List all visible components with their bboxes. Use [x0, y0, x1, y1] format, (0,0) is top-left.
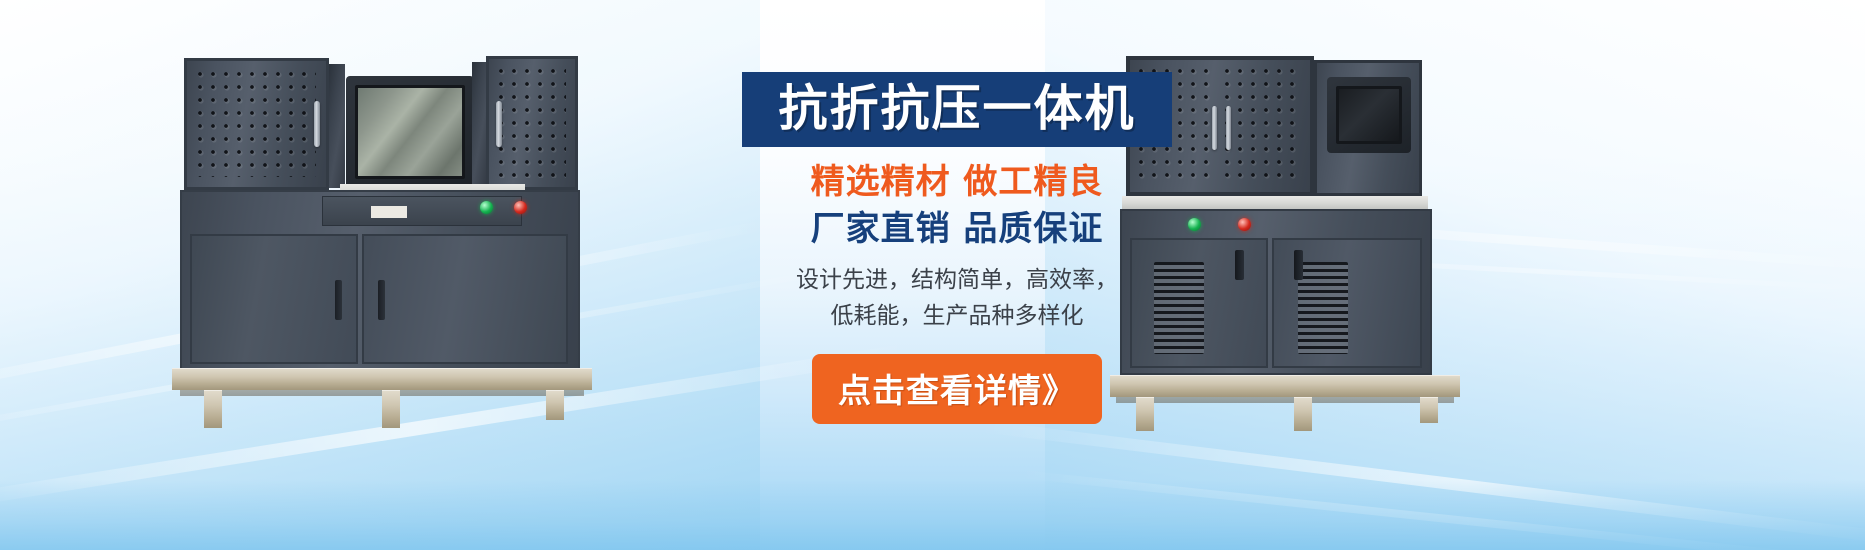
pallet-leg: [1420, 397, 1438, 423]
cabinet-handle-left: [1212, 106, 1217, 150]
monitor-screen: [355, 85, 465, 179]
pallet-leg: [1294, 397, 1312, 431]
page-title: 抗折抗压一体机: [778, 80, 1135, 137]
right-top-cabinet-side: [472, 62, 486, 190]
cabinet-handle: [314, 101, 320, 147]
drawer-label-plate: [371, 206, 407, 218]
perforated-panel: [498, 68, 566, 178]
promo-text-block: 抗折抗压一体机 精选精材 做工精良 厂家直销 品质保证 设计先进，结构简单，高效…: [742, 72, 1172, 424]
door-handle: [378, 280, 385, 320]
background-bottom-band: [0, 480, 1865, 550]
promo-banner: 抗折抗压一体机 精选精材 做工精良 厂家直销 品质保证 设计先进，结构简单，高效…: [0, 0, 1865, 550]
description-line-2: 低耗能，生产品种多样化: [742, 299, 1172, 335]
lower-door-right: [1272, 238, 1422, 368]
power-indicator-green: [1188, 218, 1201, 231]
cabinet-handle: [496, 101, 502, 147]
pallet-leg: [204, 390, 222, 428]
monitor-screen: [1336, 86, 1402, 144]
title-banner: 抗折抗压一体机: [742, 72, 1172, 147]
control-monitor: [346, 76, 474, 188]
door-handle: [335, 280, 342, 320]
power-indicator-green: [480, 201, 493, 214]
door-handle: [1235, 250, 1244, 280]
left-top-cabinet: [184, 58, 329, 190]
perforated-panel-right: [1224, 68, 1302, 184]
pallet-leg: [546, 390, 564, 420]
power-indicator-red: [514, 201, 527, 214]
pallet-leg: [382, 390, 400, 428]
lower-door-right: [362, 234, 568, 364]
ventilation-slots: [1298, 262, 1348, 354]
perforated-panel: [197, 71, 316, 177]
view-details-button[interactable]: 点击查看详情》: [812, 354, 1102, 424]
control-monitor: [1327, 77, 1411, 153]
left-top-cabinet-side: [329, 64, 345, 188]
description-line-1: 设计先进，结构简单，高效率，: [742, 263, 1172, 299]
description-block: 设计先进，结构简单，高效率， 低耗能，生产品种多样化: [742, 263, 1172, 334]
monitor-housing: [1314, 60, 1422, 196]
cta-container: 点击查看详情》: [742, 354, 1172, 424]
control-drawer: [322, 196, 522, 226]
wooden-pallet: [172, 368, 592, 390]
product-image-left: [150, 38, 600, 438]
right-top-cabinet: [486, 56, 578, 190]
headline-blue: 厂家直销 品质保证: [742, 210, 1172, 249]
power-indicator-red: [1238, 218, 1251, 231]
cabinet-handle-right: [1226, 106, 1231, 150]
headline-orange: 精选精材 做工精良: [742, 163, 1172, 202]
lower-door-left: [190, 234, 358, 364]
door-handle: [1294, 250, 1303, 280]
